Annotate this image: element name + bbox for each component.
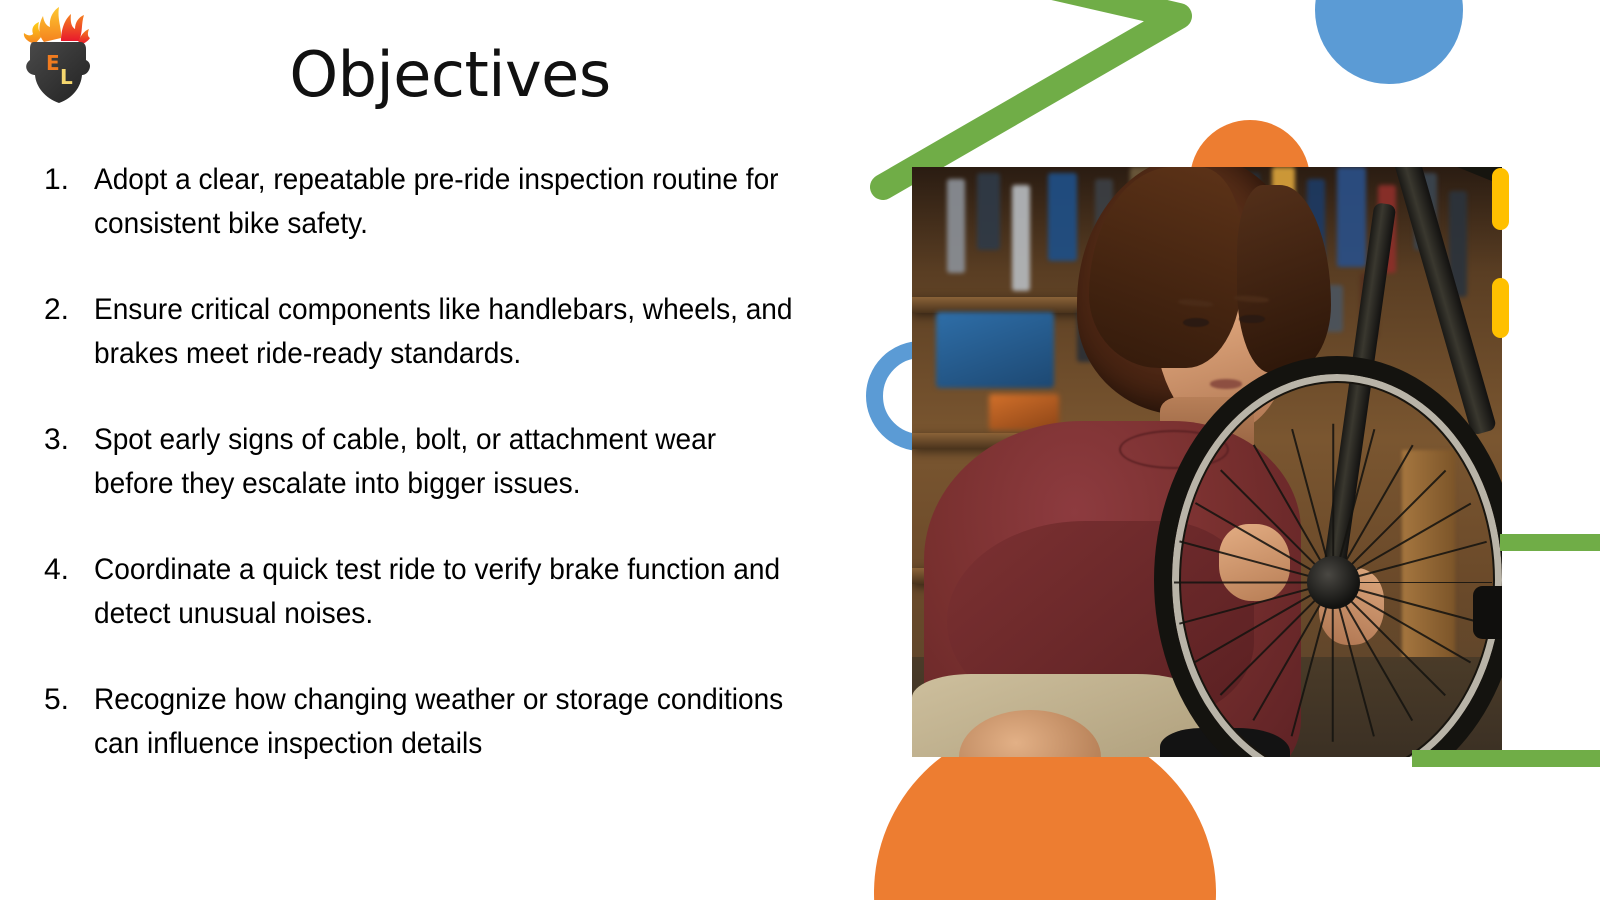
list-item-text: Spot early signs of cable, bolt, or atta… [94, 418, 795, 506]
list-item: 2. Ensure critical components like handl… [44, 288, 844, 376]
flame-icon [24, 7, 90, 44]
list-item: 3. Spot early signs of cable, bolt, or a… [44, 418, 844, 506]
bike-inspection-photo [912, 167, 1502, 757]
list-item-number: 5. [44, 678, 94, 722]
page-title: Objectives [40, 42, 860, 107]
list-item: 4. Coordinate a quick test ride to verif… [44, 548, 844, 636]
objectives-list: 1. Adopt a clear, repeatable pre-ride in… [44, 158, 844, 766]
list-item-number: 4. [44, 548, 94, 592]
blue-circle-shape [1315, 0, 1463, 84]
list-item-text: Recognize how changing weather or storag… [94, 678, 795, 766]
yellow-pill-lower-shape [1492, 278, 1509, 338]
list-item-number: 1. [44, 158, 94, 202]
yellow-pill-upper-shape [1492, 168, 1509, 230]
list-item: 5. Recognize how changing weather or sto… [44, 678, 844, 766]
list-item-text: Coordinate a quick test ride to verify b… [94, 548, 795, 636]
green-bar-upper-shape [1500, 534, 1600, 551]
list-item: 1. Adopt a clear, repeatable pre-ride in… [44, 158, 844, 246]
list-item-number: 3. [44, 418, 94, 462]
green-bar-lower-shape [1412, 750, 1600, 767]
list-item-text: Ensure critical components like handleba… [94, 288, 795, 376]
list-item-text: Adopt a clear, repeatable pre-ride inspe… [94, 158, 795, 246]
list-item-number: 2. [44, 288, 94, 332]
slide-canvas: E L Objectives 1. Adopt a clear, repeata… [0, 0, 1600, 900]
